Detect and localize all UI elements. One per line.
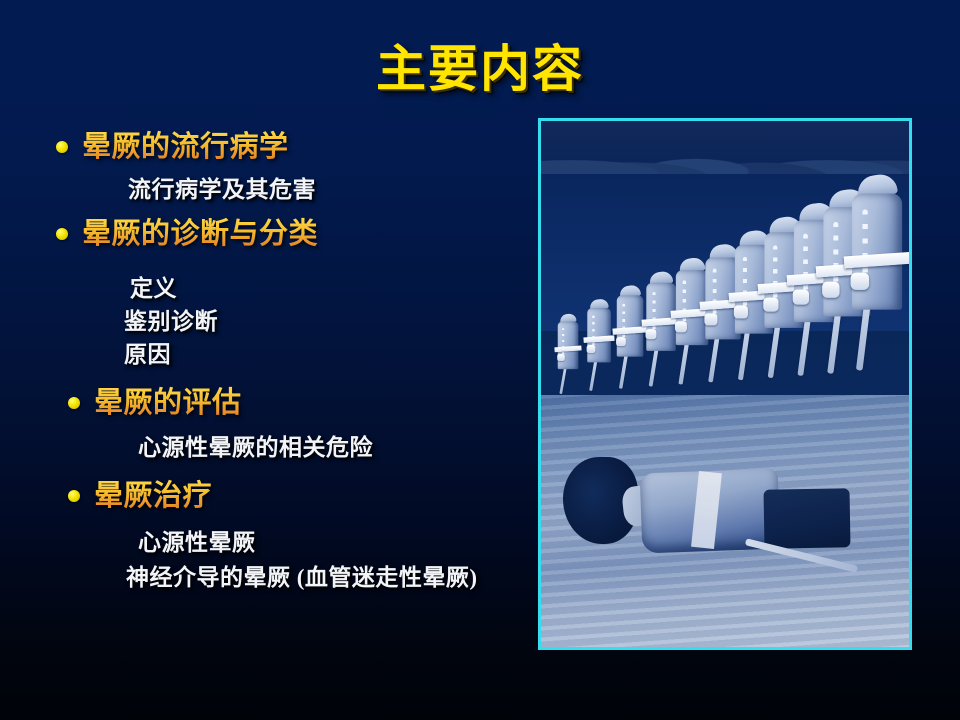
soldier-buttons bbox=[683, 281, 686, 327]
soldier-glove bbox=[851, 273, 869, 290]
soldier-tunic bbox=[588, 308, 611, 362]
soldier-belt bbox=[584, 336, 615, 344]
photo-trees bbox=[541, 121, 909, 174]
list-item[interactable]: 定义 bbox=[130, 275, 526, 302]
list-item[interactable]: 流行病学及其危害 bbox=[128, 176, 526, 203]
presentation-slide: 主要内容 晕厥的流行病学 流行病学及其危害 晕厥的诊断与分类 定义 鉴别诊断 原… bbox=[0, 0, 960, 720]
list-item-label: 定义 bbox=[130, 276, 177, 301]
soldier-tunic bbox=[617, 296, 643, 357]
soldier-trousers bbox=[589, 360, 609, 398]
list-item-label: 心源性晕厥 bbox=[138, 530, 256, 555]
soldier-buttons bbox=[863, 210, 868, 282]
list-item-label: 心源性晕厥的相关危险 bbox=[138, 435, 373, 460]
soldier-trousers bbox=[856, 305, 898, 387]
soldier-tunic bbox=[558, 321, 579, 369]
soldier-glove bbox=[734, 305, 748, 318]
soldier-buttons bbox=[803, 234, 808, 297]
photo-soldier bbox=[851, 175, 904, 373]
list-item[interactable]: 心源性晕厥 bbox=[138, 529, 526, 556]
page-title: 主要内容 bbox=[0, 40, 960, 98]
soldier-tunic bbox=[852, 194, 902, 310]
photo-soldier bbox=[558, 314, 580, 395]
list-item[interactable]: 原因 bbox=[124, 341, 526, 368]
bullet-dot-icon bbox=[56, 141, 68, 153]
list-item-label: 晕厥的流行病学 bbox=[82, 130, 289, 164]
soldier-buttons bbox=[743, 257, 747, 312]
soldier-glove bbox=[616, 337, 626, 346]
soldier-buttons bbox=[833, 222, 838, 290]
soldier-trousers bbox=[678, 342, 705, 395]
list-item-label: 晕厥的诊断与分类 bbox=[82, 217, 318, 251]
bullet-dot-icon bbox=[56, 228, 68, 240]
list-item[interactable]: 晕厥治疗 bbox=[56, 477, 526, 515]
soldier-glove bbox=[558, 353, 566, 360]
soldier-glove bbox=[822, 281, 839, 297]
list-item[interactable]: 晕厥的流行病学 bbox=[56, 128, 526, 166]
soldier-buttons bbox=[563, 328, 565, 357]
soldier-glove bbox=[792, 289, 808, 304]
soldier-trousers bbox=[649, 348, 674, 396]
slide-photo bbox=[538, 118, 912, 650]
bullet-dot-icon bbox=[68, 490, 80, 502]
photo-soldier bbox=[616, 286, 644, 390]
soldier-glove bbox=[704, 313, 717, 325]
photo-soldier bbox=[587, 300, 612, 393]
soldier-belt bbox=[844, 252, 909, 268]
list-item[interactable]: 心源性晕厥的相关危险 bbox=[138, 434, 526, 461]
photo-soldier bbox=[646, 272, 677, 388]
soldier-glove bbox=[763, 297, 778, 311]
soldier-trousers bbox=[560, 366, 577, 399]
soldier-belt bbox=[555, 345, 582, 352]
list-item[interactable]: 神经介导的晕厥 (血管迷走性晕厥) bbox=[126, 564, 526, 591]
list-item-label: 神经介导的晕厥 (血管迷走性晕厥) bbox=[126, 565, 478, 590]
list-item[interactable]: 晕厥的评估 bbox=[56, 384, 526, 422]
list-item-label: 晕厥治疗 bbox=[94, 479, 212, 513]
soldier-trousers bbox=[619, 354, 641, 397]
bullet-dot-icon bbox=[68, 397, 80, 409]
photo-fainted-soldier bbox=[563, 463, 850, 558]
soldier-belt bbox=[613, 326, 648, 335]
list-item-label: 鉴别诊断 bbox=[124, 309, 218, 334]
list-item-label: 原因 bbox=[124, 342, 171, 367]
soldier-buttons bbox=[773, 245, 777, 304]
soldier-glove bbox=[587, 345, 596, 353]
soldier-glove bbox=[675, 321, 687, 332]
list-item[interactable]: 晕厥的诊断与分类 bbox=[56, 215, 526, 253]
list-item-label: 晕厥的评估 bbox=[94, 386, 242, 420]
soldier-buttons bbox=[713, 269, 717, 320]
list-item[interactable]: 鉴别诊断 bbox=[124, 308, 526, 335]
list-item-label: 流行病学及其危害 bbox=[128, 177, 316, 202]
outline-list: 晕厥的流行病学 流行病学及其危害 晕厥的诊断与分类 定义 鉴别诊断 原因 晕厥的… bbox=[56, 128, 526, 591]
fainted-legs bbox=[763, 489, 850, 549]
photo-canvas bbox=[541, 121, 909, 647]
soldier-glove bbox=[646, 329, 657, 339]
